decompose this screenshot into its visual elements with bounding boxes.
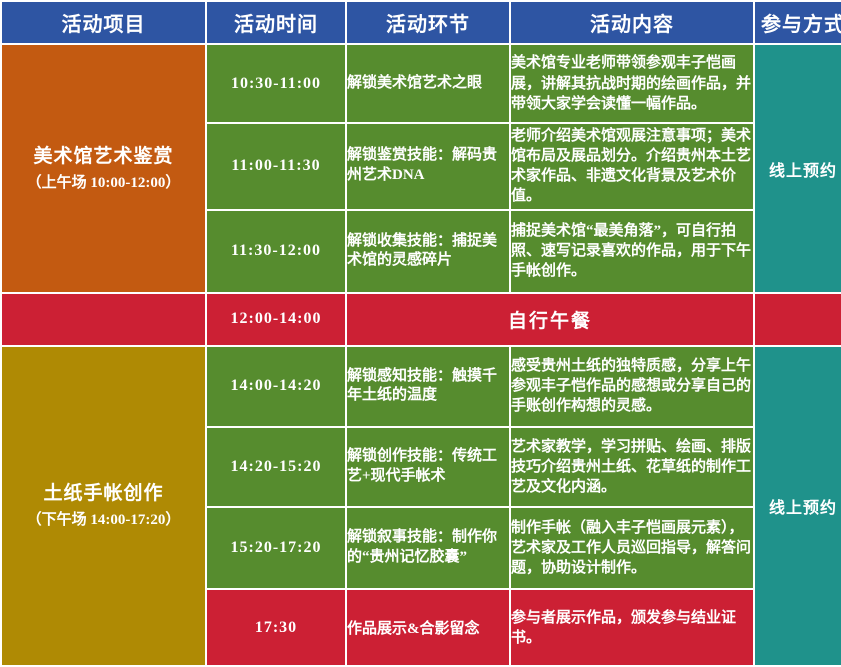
lunch-break-row: 12:00-14:00 自行午餐 [2,294,841,344]
content-cell: 感受贵州土纸的独特质感，分享上午参观丰子恺作品的感想或分享自己的手账创作构想的灵… [511,347,753,427]
activity-schedule-table: 活动项目 活动时间 活动环节 活动内容 参与方式 美术馆艺术鉴赏 （上午场 10… [0,0,841,667]
header-cell-time: 活动时间 [207,2,345,43]
time-cell: 11:30-12:00 [207,211,345,293]
segment-cell: 解锁叙事技能：制作你的“贵州记忆胶囊” [347,508,509,589]
segment-cell: 解锁鉴赏技能：解码贵州艺术DNA [347,124,509,209]
section-title-morning-sub: （上午场 10:00-12:00） [2,173,205,195]
content-cell: 艺术家教学，学习拼贴、绘画、排版技巧介绍贵州土纸、花草纸的制作工艺及文化内涵。 [511,428,753,506]
section-title-morning: 美术馆艺术鉴赏 （上午场 10:00-12:00） [2,45,205,292]
lunch-time-cell: 12:00-14:00 [207,294,345,344]
time-cell: 14:20-15:20 [207,428,345,506]
lunch-blank-cell [2,294,205,344]
section-title-afternoon-main: 土纸手帐创作 [2,480,205,508]
content-cell: 捕捉美术馆“最美角落”，可自行拍照、速写记录喜欢的作品，用于下午手帐创作。 [511,211,753,293]
time-cell: 14:00-14:20 [207,347,345,427]
content-cell: 老师介绍美术馆观展注意事项；美术馆布局及展品划分。介绍贵州本土艺术家作品、非遗文… [511,124,753,209]
segment-cell: 解锁美术馆艺术之眼 [347,45,509,122]
table-row: 土纸手帐创作 （下午场 14:00-17:20） 14:00-14:20 解锁感… [2,347,841,427]
time-cell: 15:20-17:20 [207,508,345,589]
section-title-afternoon-sub: （下午场 14:00-17:20） [2,510,205,532]
lunch-label-cell: 自行午餐 [347,294,753,344]
segment-cell: 作品展示&合影留念 [347,590,509,665]
header-cell-join: 参与方式 [755,2,841,43]
time-cell: 17:30 [207,590,345,665]
content-cell: 美术馆专业老师带领参观丰子恺画展，讲解其抗战时期的绘画作品，并带领大家学会读懂一… [511,45,753,122]
header-cell-segment: 活动环节 [347,2,509,43]
segment-cell: 解锁感知技能：触摸千年土纸的温度 [347,347,509,427]
lunch-join-blank-cell [755,294,841,344]
header-cell-project: 活动项目 [2,2,205,43]
content-cell: 参与者展示作品，颁发参与结业证书。 [511,590,753,665]
time-cell: 10:30-11:00 [207,45,345,122]
segment-cell: 解锁创作技能：传统工艺+现代手帐术 [347,428,509,506]
table-header-row: 活动项目 活动时间 活动环节 活动内容 参与方式 [2,2,841,43]
section-title-morning-main: 美术馆艺术鉴赏 [2,143,205,171]
section-title-afternoon: 土纸手帐创作 （下午场 14:00-17:20） [2,347,205,665]
table-row: 美术馆艺术鉴赏 （上午场 10:00-12:00） 10:30-11:00 解锁… [2,45,841,122]
segment-cell: 解锁收集技能：捕捉美术馆的灵感碎片 [347,211,509,293]
join-method-morning: 线上预约 [755,45,841,292]
time-cell: 11:00-11:30 [207,124,345,209]
header-cell-content: 活动内容 [511,2,753,43]
content-cell: 制作手帐（融入丰子恺画展元素），艺术家及工作人员巡回指导，解答问题，协助设计制作… [511,508,753,589]
join-method-afternoon: 线上预约 [755,347,841,665]
